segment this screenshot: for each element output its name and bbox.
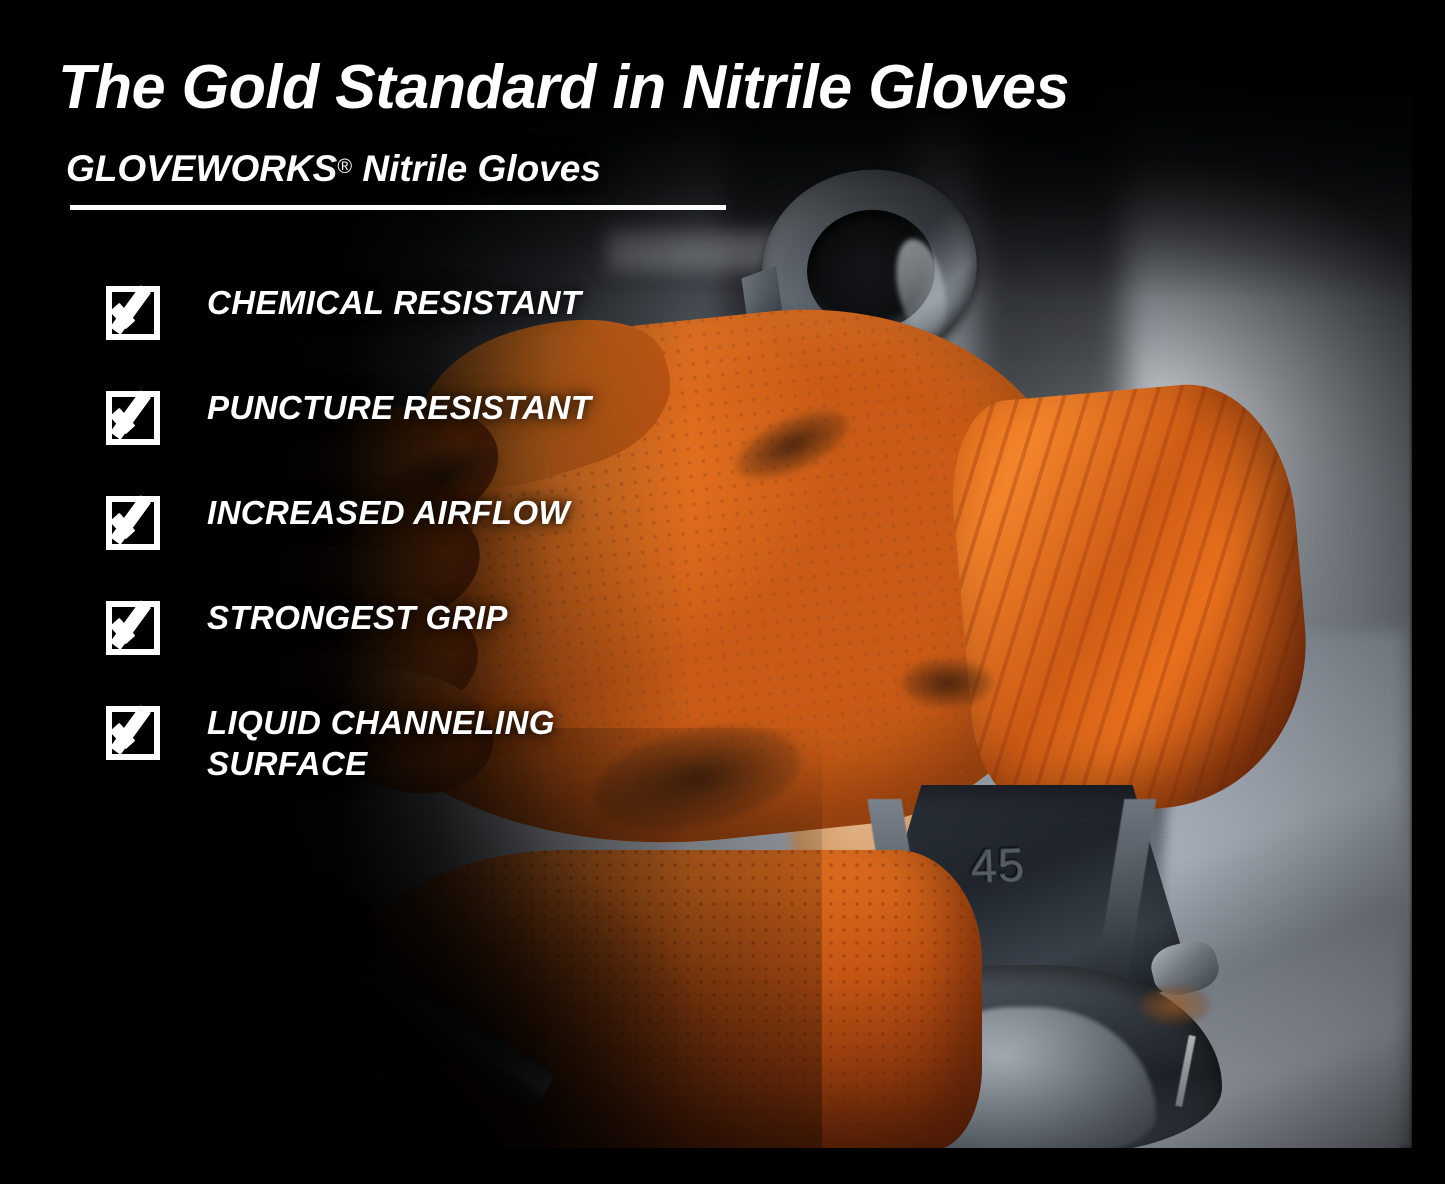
headline: The Gold Standard in Nitrile Gloves <box>58 52 1069 123</box>
check-mark-icon <box>114 698 166 750</box>
checkbox-checked-icon <box>106 702 160 756</box>
feature-item: INCREASED AIRFLOW <box>106 492 726 597</box>
checkbox-checked-icon <box>106 492 160 546</box>
glove-grease-smudge <box>902 660 992 706</box>
check-mark-icon <box>114 383 166 435</box>
check-mark-icon <box>114 593 166 645</box>
feature-item: STRONGEST GRIP <box>106 597 726 702</box>
brand-name: GLOVEWORKS <box>66 148 337 189</box>
checkbox-checked-icon <box>106 597 160 651</box>
feature-label: PUNCTURE RESISTANT <box>207 387 591 428</box>
feature-list: CHEMICAL RESISTANT PUNCTURE RESISTANT IN… <box>106 282 726 822</box>
gloveworks-promo-banner: 45 The Gold Standard in Nitrile Gloves G… <box>0 0 1445 1184</box>
rod-rust-patch <box>1140 985 1210 1025</box>
glove-cuff <box>944 376 1319 824</box>
feature-label: LIQUID CHANNELING SURFACE <box>207 702 555 784</box>
subheadline-underline <box>70 205 726 210</box>
gloved-hand-lower <box>262 830 1022 1148</box>
feature-label: STRONGEST GRIP <box>207 597 508 638</box>
checkbox-checked-icon <box>106 282 160 336</box>
subheadline: GLOVEWORKS® Nitrile Gloves <box>66 148 601 190</box>
product-name: Nitrile Gloves <box>352 148 601 189</box>
feature-label: CHEMICAL RESISTANT <box>207 282 582 323</box>
check-mark-icon <box>114 488 166 540</box>
check-mark-icon <box>114 278 166 330</box>
feature-item: PUNCTURE RESISTANT <box>106 387 726 492</box>
registered-trademark-icon: ® <box>337 156 352 178</box>
checkbox-checked-icon <box>106 387 160 441</box>
feature-item: CHEMICAL RESISTANT <box>106 282 726 387</box>
feature-label: INCREASED AIRFLOW <box>207 492 570 533</box>
feature-item: LIQUID CHANNELING SURFACE <box>106 702 726 822</box>
